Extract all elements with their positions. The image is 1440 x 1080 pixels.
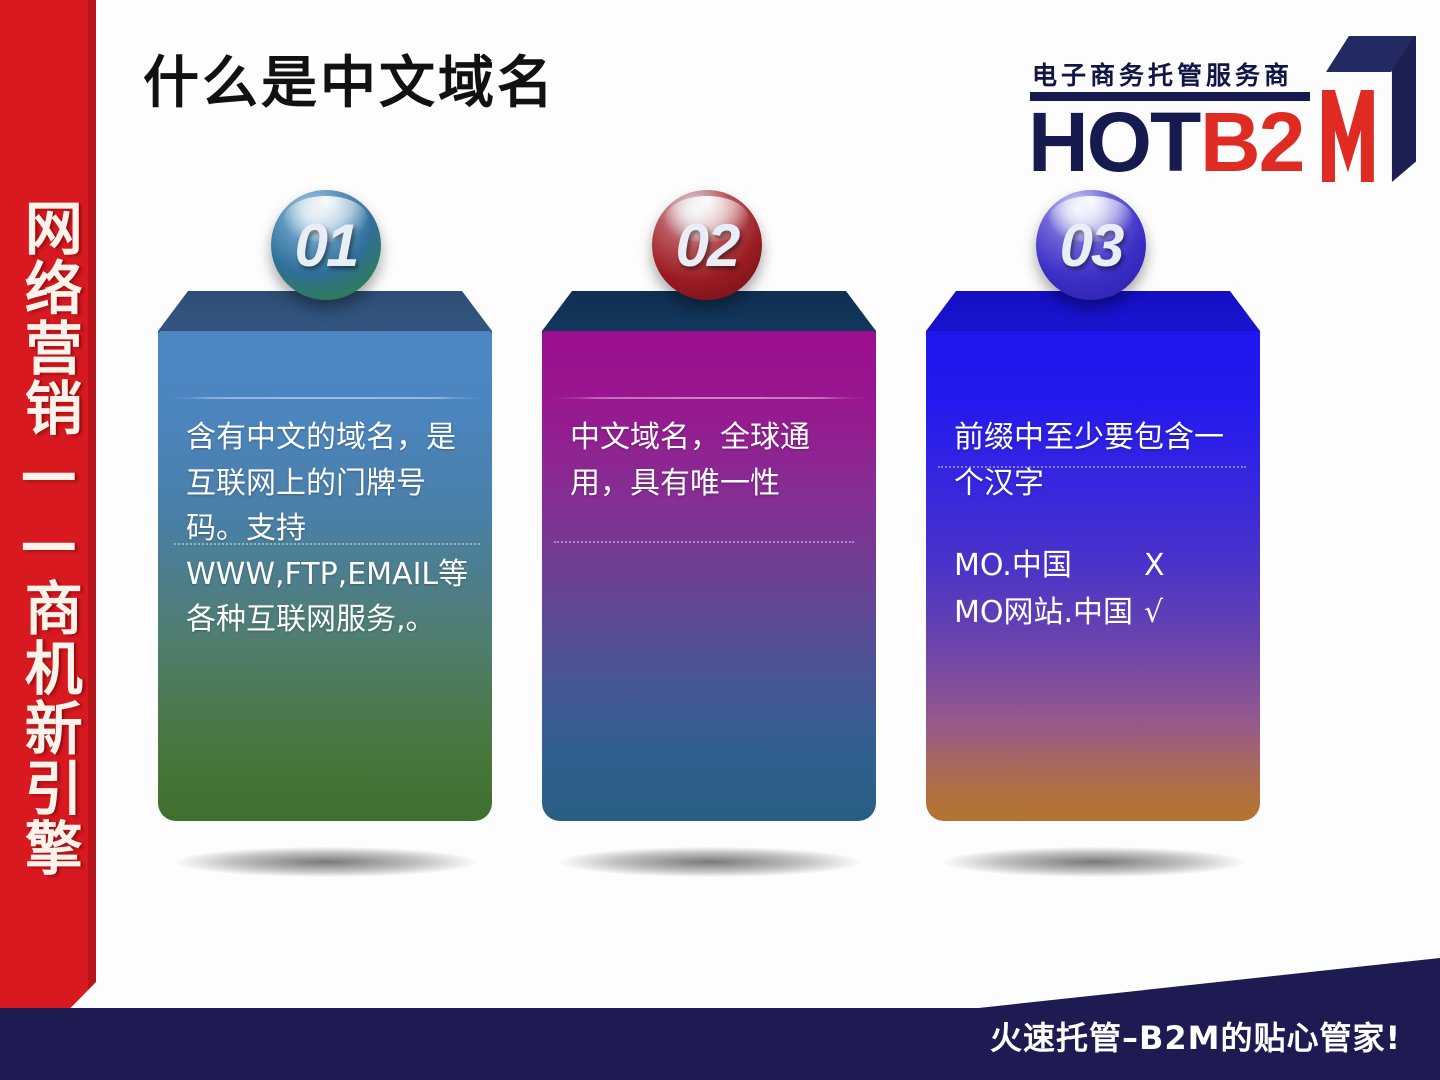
example-mark: √ <box>1144 590 1163 637</box>
brand-logo: 电子商务托管服务商 HOT B2 <box>1022 26 1422 186</box>
example-mark: X <box>1144 543 1165 590</box>
card-example-row: MO.中国 X <box>954 543 1254 590</box>
card-drop-shadow <box>176 847 476 877</box>
logo-tagline: 电子商务托管服务商 <box>1032 56 1293 92</box>
card-drop-shadow <box>944 847 1244 877</box>
card-body-text: 中文域名，全球通用，具有唯一性 <box>570 415 862 506</box>
card-gloss-line <box>550 397 868 399</box>
slide-canvas: 网络营销——商机新引擎 什么是中文域名 电子商务托管服务商 HOT B2 含有中… <box>0 0 1440 1080</box>
logo-hot-text: HOT <box>1028 94 1199 191</box>
card-badge-sphere-03: 03 <box>1036 190 1146 300</box>
logo-m-front-face <box>1322 64 1394 182</box>
logo-m-block-icon <box>1322 34 1417 184</box>
card-dotted-divider <box>554 541 854 543</box>
page-title: 什么是中文域名 <box>143 38 556 119</box>
card-drop-shadow <box>560 847 860 877</box>
card-badge-number: 02 <box>652 190 762 300</box>
sidebar-vertical-text: 网络营销——商机新引擎 <box>17 198 78 878</box>
card-badge-number: 03 <box>1036 190 1146 300</box>
card-body-text: 含有中文的域名，是互联网上的门牌号码。支持WWW,FTP,EMAIL等各种互联网… <box>186 415 478 643</box>
logo-b2-text: B2 <box>1200 94 1303 191</box>
card-badge-sphere-01: 01 <box>271 190 381 300</box>
card-body-text: 前缀中至少要包含一个汉字 <box>954 415 1246 506</box>
card-example-row: MO网站.中国 √ <box>954 590 1254 637</box>
footer-angled-wedge <box>960 958 1440 1010</box>
card-badge-number: 01 <box>271 190 381 300</box>
card-badge-sphere-02: 02 <box>652 190 762 300</box>
sidebar-vertical-text-wrap: 网络营销——商机新引擎 <box>0 198 96 878</box>
card-gloss-line <box>166 397 484 399</box>
card-example-list: MO.中国 X MO网站.中国 √ <box>954 543 1254 636</box>
example-name: MO.中国 <box>954 543 1144 590</box>
footer-slogan: 火速托管–B2M的贴心管家! <box>990 1013 1430 1059</box>
card-body <box>542 331 876 821</box>
example-name: MO网站.中国 <box>954 590 1144 637</box>
